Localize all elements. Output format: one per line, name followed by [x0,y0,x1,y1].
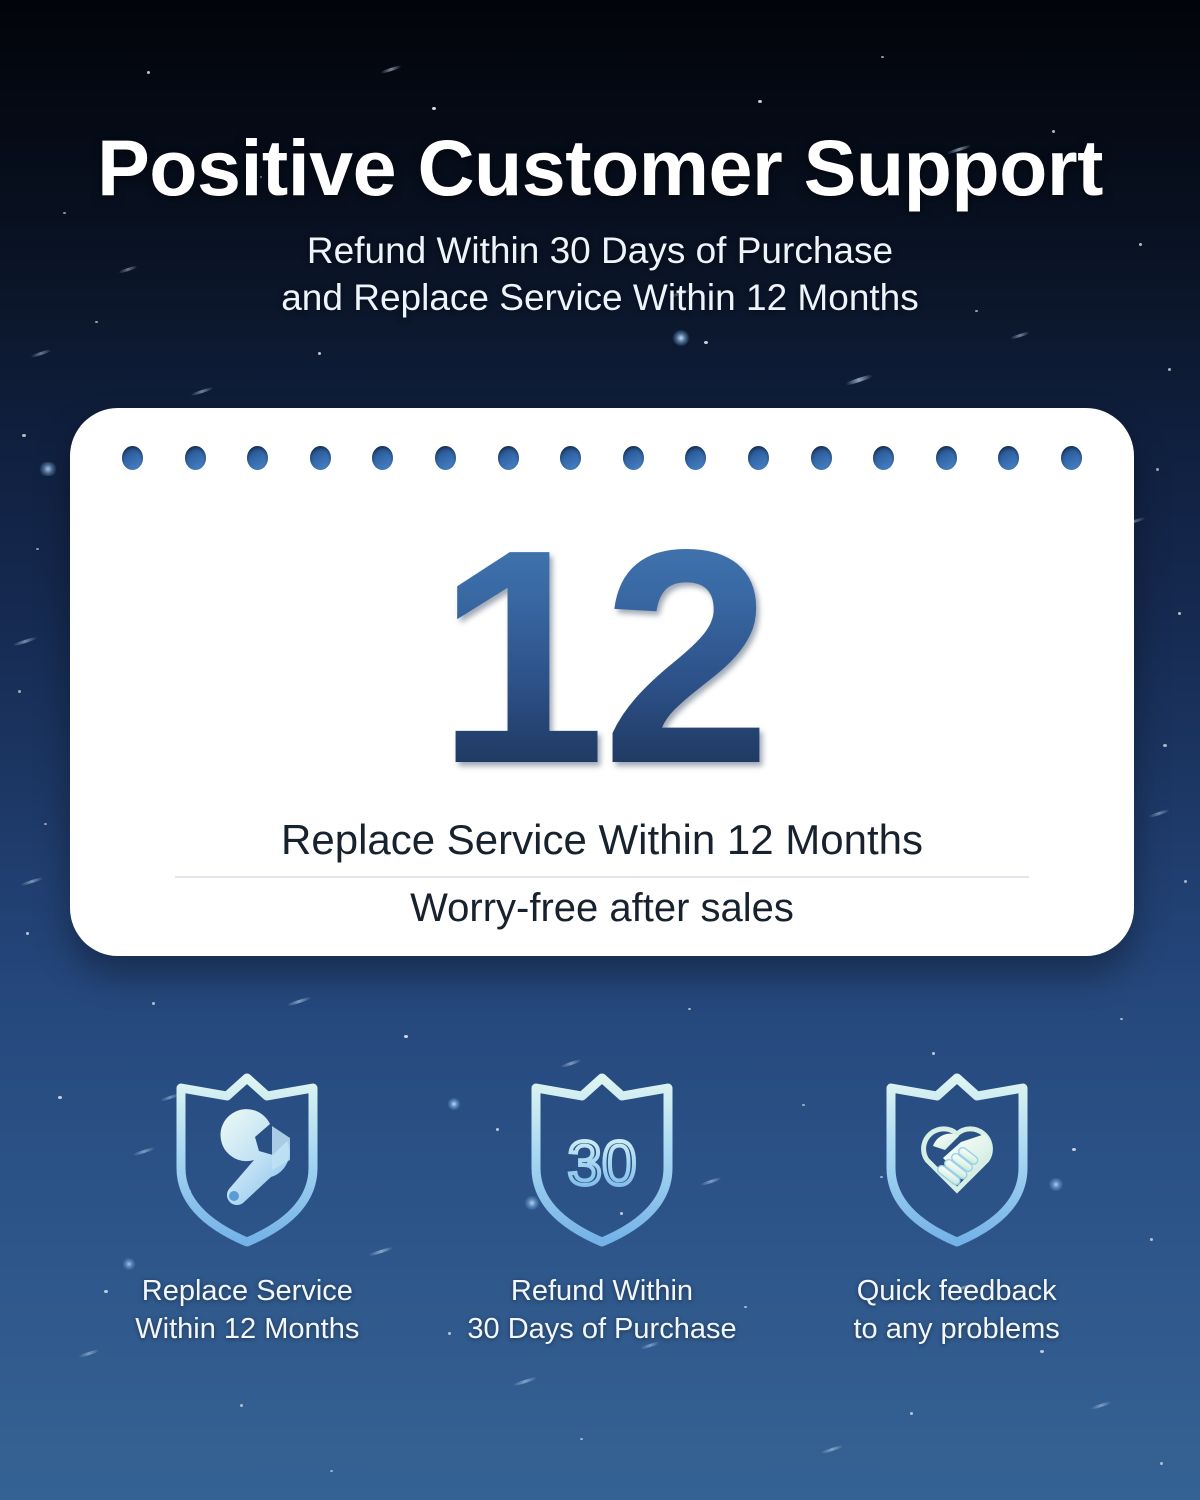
page-title: Positive Customer Support [0,128,1200,207]
binder-hole [936,446,957,470]
feature-replace-service: Replace Service Within 12 Months [97,1070,397,1349]
binder-hole [623,446,644,470]
feature-label: Replace Service Within 12 Months [97,1272,397,1349]
binder-hole [998,446,1019,470]
warranty-months-number: 12 [70,504,1134,809]
promotional-poster: Positive Customer Support Refund Within … [0,0,1200,1500]
binder-hole [873,446,894,470]
feature-label: Refund Within 30 Days of Purchase [452,1272,752,1349]
binder-hole [310,446,331,470]
binder-hole [122,446,143,470]
subtitle-line-1: Refund Within 30 Days of Purchase [0,227,1200,274]
feature-refund-30-days: 30 Refund Within 30 Days of Purchase [452,1070,752,1349]
card-subheadline: Worry-free after sales [70,886,1134,931]
shield-handshake-heart-icon [807,1070,1107,1250]
binder-hole [372,446,393,470]
binder-hole [435,446,456,470]
warranty-card: 12 Replace Service Within 12 Months Worr… [70,408,1134,956]
features-row: Replace Service Within 12 Months 30 [70,1070,1134,1349]
header-block: Positive Customer Support Refund Within … [0,0,1200,322]
subtitle-line-2: and Replace Service Within 12 Months [0,274,1200,321]
binder-hole [498,446,519,470]
card-divider [175,876,1029,878]
shield-30-days-icon: 30 [452,1070,752,1250]
shield-wrench-icon [97,1070,397,1250]
card-headline: Replace Service Within 12 Months [70,816,1134,864]
binder-hole [560,446,581,470]
page-subtitle: Refund Within 30 Days of Purchase and Re… [0,227,1200,322]
feature-label: Quick feedback to any problems [807,1272,1107,1349]
binder-hole [685,446,706,470]
shield-badge-number: 30 [568,1129,637,1198]
binder-hole [1061,446,1082,470]
feature-quick-feedback: Quick feedback to any problems [807,1070,1107,1349]
binder-hole [185,446,206,470]
binder-hole [247,446,268,470]
binder-holes-row [70,446,1134,470]
binder-hole [811,446,832,470]
binder-hole [748,446,769,470]
